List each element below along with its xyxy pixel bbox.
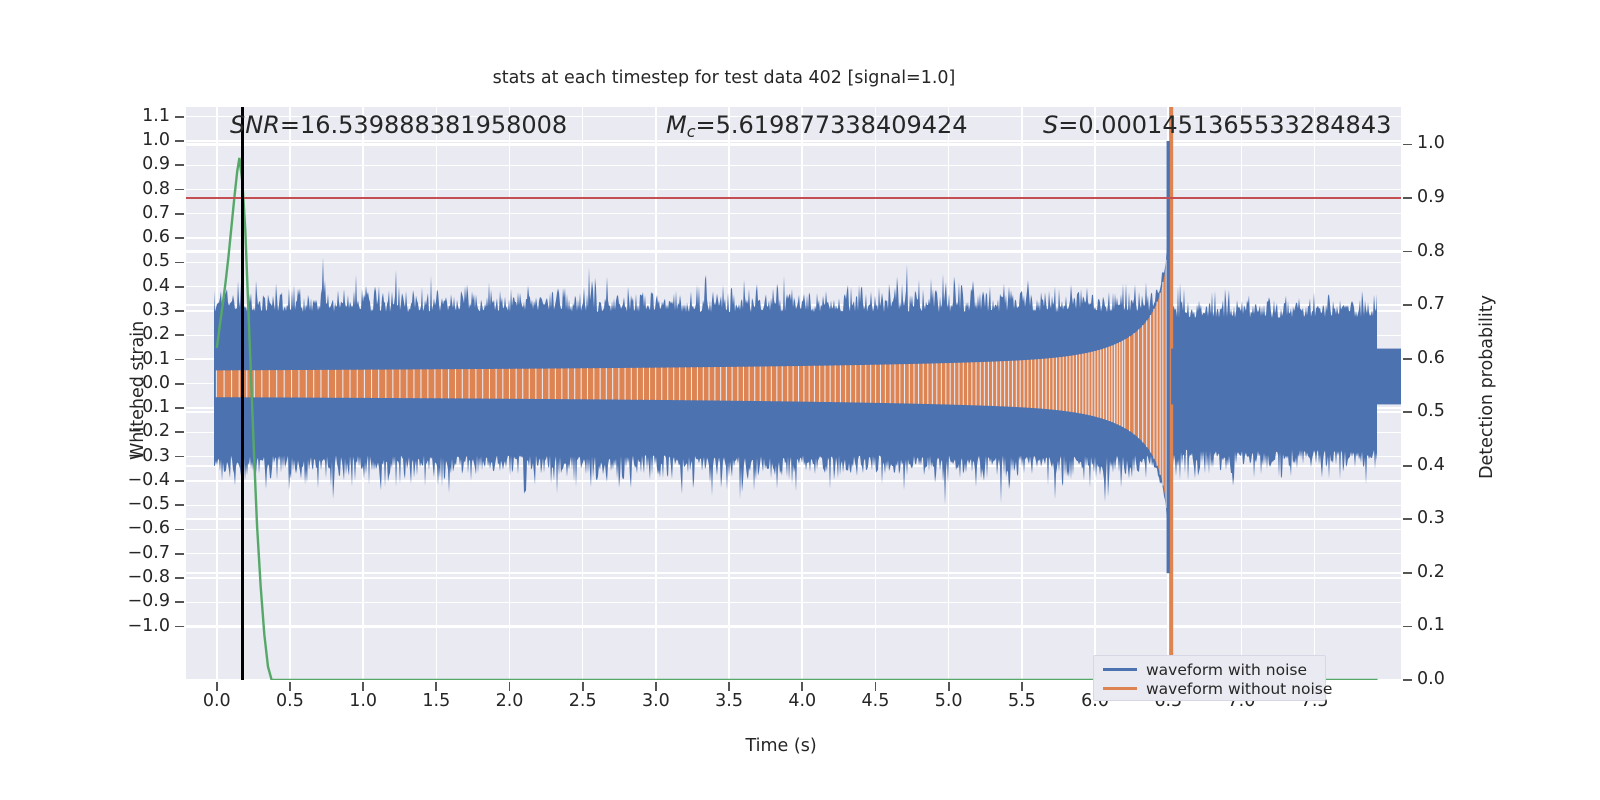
tick-mark-y-left [175, 626, 184, 628]
legend-item[interactable]: waveform with noise [1103, 660, 1316, 679]
plot-area: SNR=16.539888381958008 Mc=5.619877338409… [186, 107, 1401, 680]
legend-item[interactable]: waveform without noise [1103, 679, 1316, 698]
tick-label-y-left: −0.4 [0, 470, 170, 490]
tick-mark-y-right [1403, 358, 1412, 360]
tick-mark-y-right [1403, 518, 1412, 520]
tick-mark-x [582, 682, 584, 691]
tick-mark-y-left [175, 286, 184, 288]
tick-mark-y-left [175, 480, 184, 482]
tick-mark-y-right [1403, 144, 1412, 146]
tick-label-x: 1.5 [406, 691, 466, 711]
x-axis-label: Time (s) [746, 736, 817, 756]
tick-label-y-right: 0.4 [1417, 455, 1445, 475]
tick-mark-x [1021, 682, 1023, 691]
tick-mark-y-right [1403, 626, 1412, 628]
tick-label-y-right: 1.0 [1417, 133, 1445, 153]
tick-mark-x [801, 682, 803, 691]
snr-annotation: SNR=16.539888381958008 [230, 111, 567, 139]
chart-title: stats at each timestep for test data 402… [0, 68, 1524, 88]
tick-mark-y-left [175, 383, 184, 385]
series-layer [186, 107, 1401, 680]
tick-label-y-left: 0.8 [0, 179, 170, 199]
tick-label-x: 5.5 [992, 691, 1052, 711]
legend-swatch-icon [1103, 687, 1137, 690]
legend-label: waveform with noise [1146, 661, 1307, 679]
tick-label-y-left: −0.8 [0, 567, 170, 587]
tick-mark-x [509, 682, 511, 691]
tick-mark-y-left [175, 407, 184, 409]
tick-mark-y-right [1403, 465, 1412, 467]
tick-label-y-right: 0.9 [1417, 187, 1445, 207]
tick-label-y-right: 0.8 [1417, 241, 1445, 261]
tick-mark-y-left [175, 237, 184, 239]
tick-label-x: 4.0 [772, 691, 832, 711]
tick-mark-y-left [175, 359, 184, 361]
tick-label-x: 1.0 [333, 691, 393, 711]
tick-mark-y-left [175, 164, 184, 166]
detection-probability-path [217, 158, 1378, 680]
tick-mark-y-left [175, 140, 184, 142]
tick-mark-y-left [175, 262, 184, 264]
legend-label: waveform without noise [1146, 680, 1332, 698]
tick-mark-x [216, 682, 218, 691]
tick-mark-x [728, 682, 730, 691]
tick-label-y-left: −0.9 [0, 591, 170, 611]
tick-label-y-left: −0.5 [0, 494, 170, 514]
tick-label-y-right: 0.2 [1417, 562, 1445, 582]
chirp-mass-annotation: Mc=5.619877338409424 [666, 111, 968, 141]
tick-mark-y-left [175, 116, 184, 118]
tick-label-x: 3.0 [626, 691, 686, 711]
tick-mark-x [655, 682, 657, 691]
tick-label-y-left: 0.6 [0, 227, 170, 247]
tick-label-x: 0.0 [187, 691, 247, 711]
tick-label-y-left: −0.7 [0, 543, 170, 563]
series-detection-probability [186, 107, 1401, 680]
tick-mark-y-right [1403, 251, 1412, 253]
tick-label-y-right: 0.3 [1417, 508, 1445, 528]
tick-label-y-left: 1.1 [0, 106, 170, 126]
tick-mark-y-left [175, 213, 184, 215]
figure-canvas: stats at each timestep for test data 402… [0, 0, 1600, 800]
tick-label-y-right: 0.1 [1417, 615, 1445, 635]
tick-label-y-left: −1.0 [0, 616, 170, 636]
tick-label-y-left: −0.6 [0, 518, 170, 538]
tick-mark-y-left [175, 601, 184, 603]
tick-label-y-left: 0.5 [0, 251, 170, 271]
tick-mark-x [948, 682, 950, 691]
tick-mark-y-left [175, 334, 184, 336]
tick-mark-y-left [175, 431, 184, 433]
legend: waveform with noisewaveform without nois… [1093, 655, 1326, 701]
tick-label-y-left: 0.4 [0, 276, 170, 296]
tick-mark-y-right [1403, 679, 1412, 681]
tick-mark-y-right [1403, 572, 1412, 574]
tick-label-x: 0.5 [260, 691, 320, 711]
tick-label-y-right: 0.6 [1417, 348, 1445, 368]
tick-label-y-right: 0.7 [1417, 294, 1445, 314]
y-axis-label-right: Detection probability [1477, 295, 1497, 479]
tick-label-y-left: 0.3 [0, 300, 170, 320]
tick-label-x: 2.0 [480, 691, 540, 711]
s-statistic-annotation: S=0.0001451365533284843 [1043, 111, 1391, 139]
tick-mark-y-left [175, 529, 184, 531]
tick-mark-y-left [175, 577, 184, 579]
tick-label-x: 4.5 [845, 691, 905, 711]
tick-label-x: 5.0 [919, 691, 979, 711]
tick-mark-y-left [175, 553, 184, 555]
tick-mark-x [435, 682, 437, 691]
tick-mark-y-left [175, 189, 184, 191]
tick-mark-y-right [1403, 304, 1412, 306]
tick-label-y-right: 0.5 [1417, 401, 1445, 421]
tick-mark-y-left [175, 504, 184, 506]
tick-label-y-right: 0.0 [1417, 669, 1445, 689]
tick-label-x: 2.5 [553, 691, 613, 711]
tick-mark-y-right [1403, 411, 1412, 413]
legend-swatch-icon [1103, 668, 1137, 671]
tick-label-y-left: 1.0 [0, 130, 170, 150]
y-axis-label-left: Whitened strain [128, 320, 148, 459]
detection-threshold-line [186, 197, 1401, 200]
tick-label-y-left: 0.9 [0, 154, 170, 174]
trigger-time-line [241, 107, 244, 680]
tick-label-y-left: 0.7 [0, 203, 170, 223]
tick-mark-y-right [1403, 197, 1412, 199]
tick-mark-y-left [175, 456, 184, 458]
tick-mark-x [362, 682, 364, 691]
tick-mark-x [875, 682, 877, 691]
tick-label-x: 3.5 [699, 691, 759, 711]
tick-mark-y-left [175, 310, 184, 312]
tick-mark-x [289, 682, 291, 691]
